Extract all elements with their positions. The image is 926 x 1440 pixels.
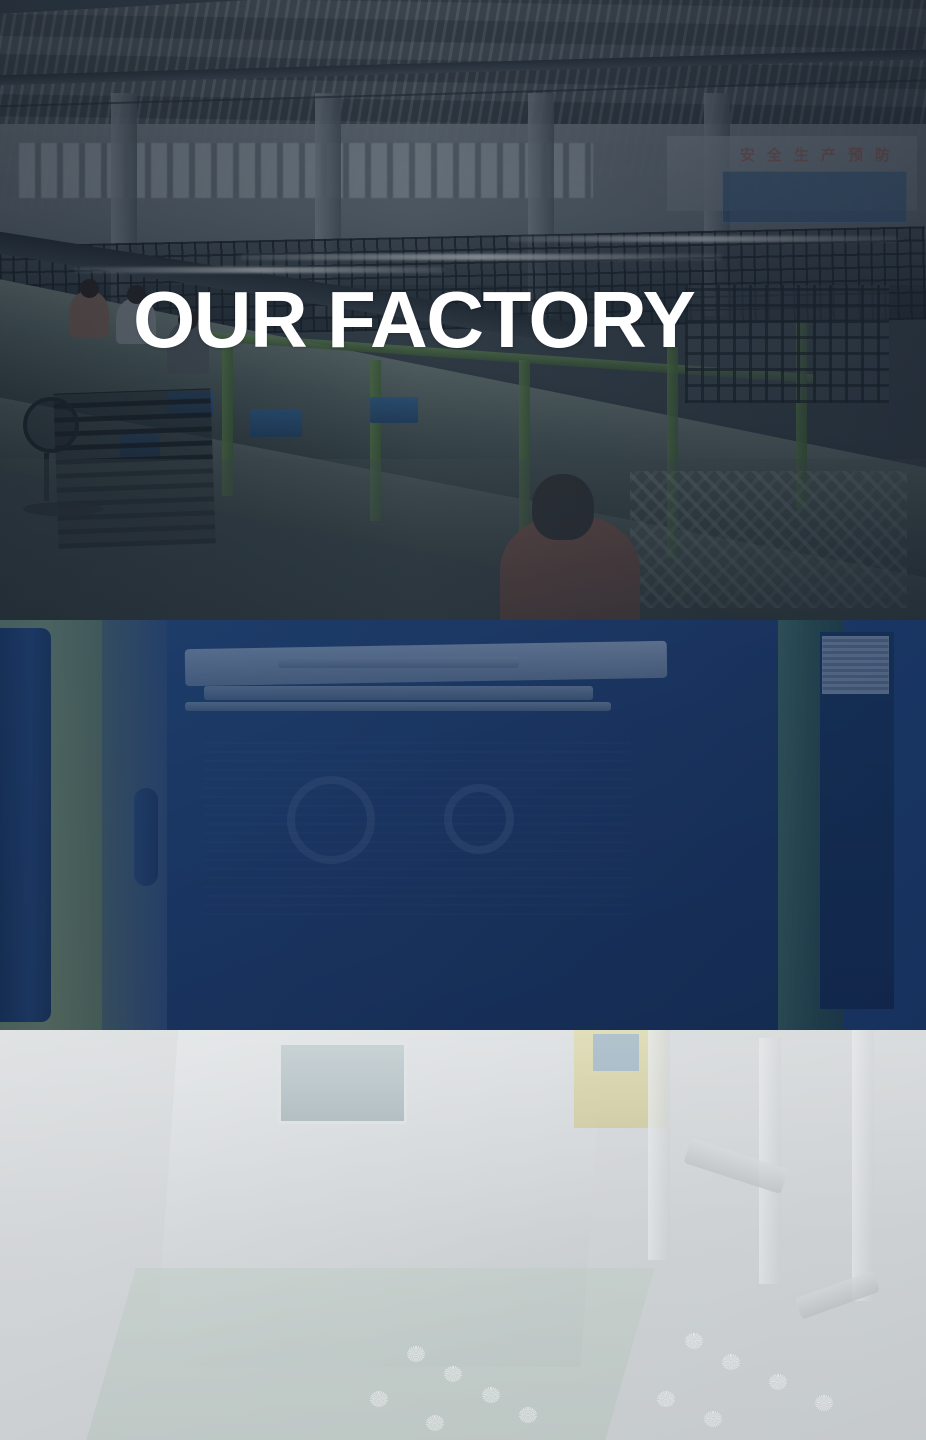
page-title-our-factory: OUR FACTORY <box>133 278 694 363</box>
panel-injection-molding: INJECTION MOLDING WORKSHOP <box>0 620 926 1030</box>
photo-tint-overlay <box>0 1030 926 1440</box>
panel-our-factory: 安全生产预防 <box>0 0 926 620</box>
factory-showcase-page: 安全生产预防 <box>0 0 926 1440</box>
photo-tint-overlay <box>0 620 926 1030</box>
panel-raw-material-processing: RAW MATERIAL PROCESSING WORKSHOP D D <box>0 1030 926 1440</box>
